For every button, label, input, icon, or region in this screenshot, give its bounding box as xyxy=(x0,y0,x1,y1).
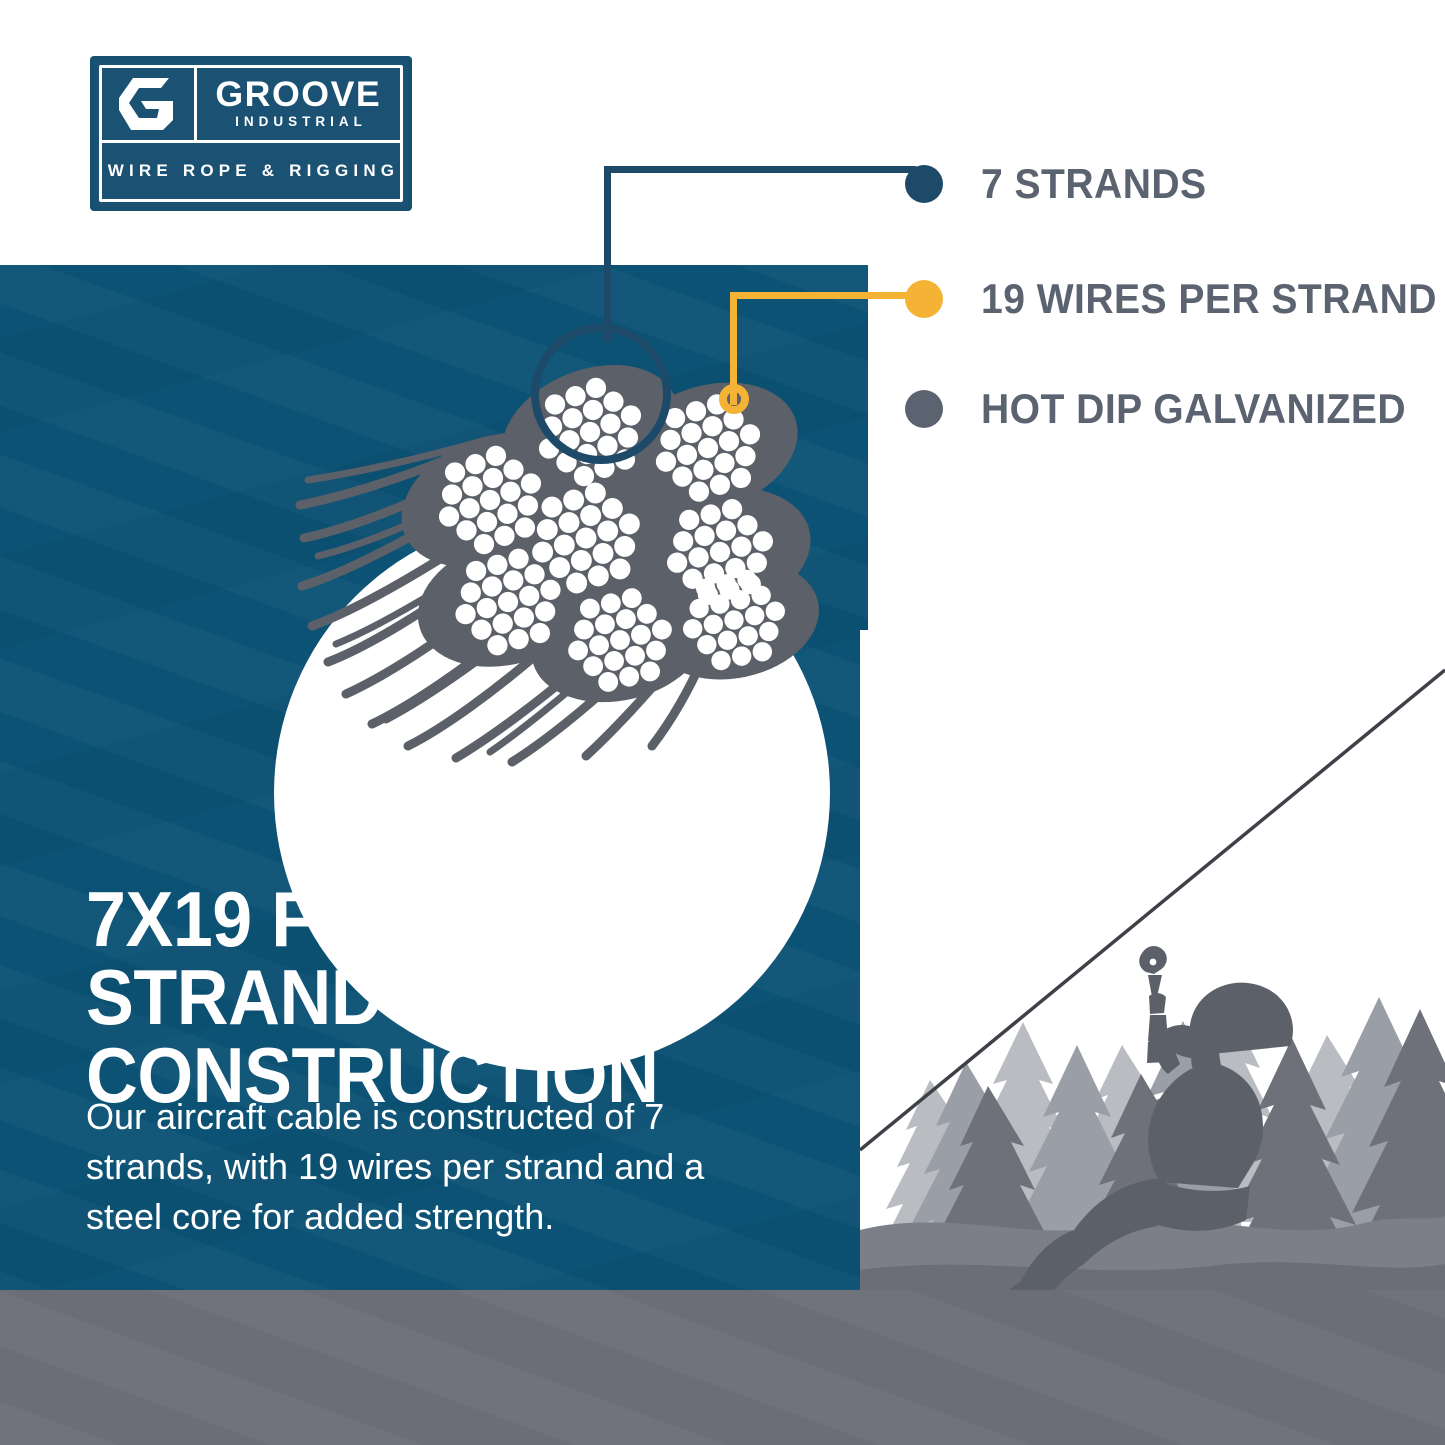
callout-label-galvanized: HOT DIP GALVANIZED xyxy=(981,385,1406,433)
infographic-canvas: 7 STRANDS 19 WIRES PER STRAND HOT DIP GA… xyxy=(0,0,1445,1445)
connector-line-strands-horizontal xyxy=(604,166,916,173)
navy-dot-icon xyxy=(905,165,943,203)
logo-top-row: GROOVE INDUSTRIAL xyxy=(102,68,400,143)
zipline-photo xyxy=(860,630,1445,1295)
connector-line-wires-vertical xyxy=(730,292,737,405)
callout-wires-per-strand: 19 WIRES PER STRAND xyxy=(905,275,1445,323)
strand-highlight-ring xyxy=(531,324,671,464)
logo-frame: GROOVE INDUSTRIAL WIRE ROPE & RIGGING xyxy=(99,65,403,202)
page-title-line1: 7X19 FLEXIBLE xyxy=(86,875,614,963)
logo-name-main: GROOVE xyxy=(216,78,382,112)
logo-tagline-bar: WIRE ROPE & RIGGING xyxy=(102,143,400,199)
gray-dot-icon xyxy=(905,390,943,428)
logo-tagline: WIRE ROPE & RIGGING xyxy=(103,161,399,181)
callout-label-wires-per-strand: 19 WIRES PER STRAND xyxy=(981,275,1437,323)
page-title: 7X19 FLEXIBLE STRAND CONSTRUCTION xyxy=(86,880,785,1114)
callout-strands: 7 STRANDS xyxy=(905,160,1224,208)
brand-logo: GROOVE INDUSTRIAL WIRE ROPE & RIGGING xyxy=(90,56,412,211)
callout-label-strands: 7 STRANDS xyxy=(981,160,1207,208)
orange-dot-icon xyxy=(905,280,943,318)
product-description: Our aircraft cable is constructed of 7 s… xyxy=(86,1092,736,1242)
footer-bar xyxy=(0,1290,1445,1445)
groove-g-icon xyxy=(102,68,197,140)
logo-wordmark: GROOVE INDUSTRIAL xyxy=(197,78,400,130)
callout-galvanized: HOT DIP GALVANIZED xyxy=(905,385,1438,433)
logo-name-sub: INDUSTRIAL xyxy=(230,113,367,130)
page-title-line2: STRAND CONSTRUCTION xyxy=(86,958,785,1114)
footer-stripe-texture xyxy=(0,1290,1445,1445)
connector-line-wires-horizontal xyxy=(730,292,916,299)
connector-line-strands-vertical xyxy=(604,166,611,342)
